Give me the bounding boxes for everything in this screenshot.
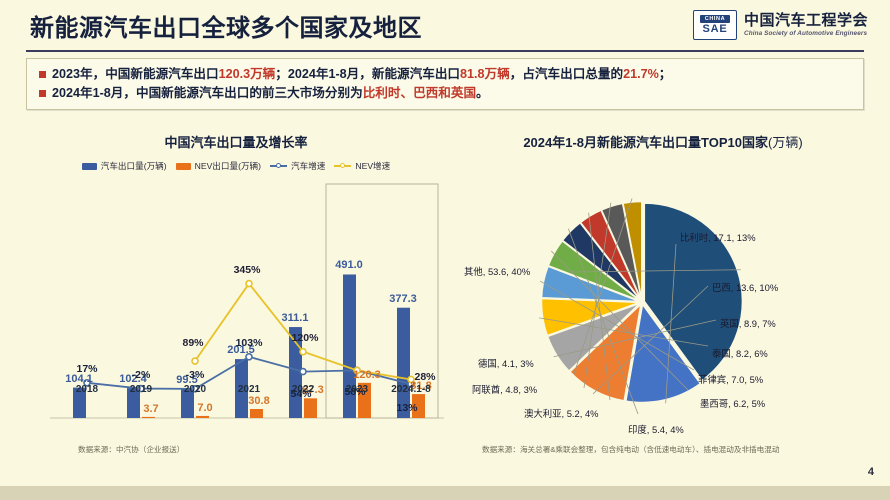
right-chart-title: 2024年1-8月新能源汽车出口量TOP10国家(万辆) [462,132,864,151]
auto-growth-label: -3% [186,369,205,381]
pie-chart-svg [462,174,864,444]
legend-item-3: NEV增速 [334,160,390,172]
x-axis-tick: 2021 [222,384,276,395]
slide-header: 新能源汽车出口全球多个国家及地区 CHINA SAE 中国汽车工程学会 Chin… [0,0,890,52]
pie-label-比利时: 比利时, 17.1, 13% [680,230,756,244]
footer-band [0,486,890,500]
legend-label: NEV出口量(万辆) [195,160,261,172]
auto-growth-label: 17% [76,363,97,375]
highlight-text: 81.8万辆 [460,67,510,81]
pie-label-泰国: 泰国, 8.2, 6% [712,346,768,360]
right-chart-source: 数据来源：海关总署&乘联会整理，包含纯电动（含低速电动车）、插电混动及非插电混动 [482,444,779,455]
bullet-text-1: 2023年，中国新能源汽车出口120.3万辆；2024年1-8月，新能源汽车出口… [52,65,671,84]
right-chart-title-unit: (万辆) [768,135,803,150]
legend-label: 汽车增速 [291,160,325,172]
x-axis-tick: 2018 [60,384,114,395]
pie-chart-panel: 2024年1-8月新能源汽车出口量TOP10国家(万辆) 其他, 53.6, 4… [462,132,864,470]
legend-item-1: NEV出口量(万辆) [176,160,261,172]
legend-item-0: 汽车出口量(万辆) [82,160,167,172]
nev-growth-label: 345% [234,264,261,276]
logo-text: 中国汽车工程学会 China Society of Automotive Eng… [744,13,868,38]
nev-value-label: 30.8 [248,395,269,407]
x-axis-tick: 2022 [276,384,330,395]
left-chart-title: 中国汽车出口量及增长率 [26,132,446,151]
logo-mark-china: CHINA [700,15,730,23]
highlight-text: 21.7% [623,67,659,81]
legend-label: NEV增速 [355,160,390,172]
left-chart-x-axis: 2018201920202021202220232024.1-8 [60,384,438,395]
nev-growth-label: 89% [182,337,203,349]
x-axis-tick: 2024.1-8 [384,384,438,395]
pie-label-澳大利亚: 澳大利亚, 5.2, 4% [524,406,599,420]
bar-nev [196,416,209,418]
legend-swatch [176,163,191,170]
nev-growth-label: 28% [414,371,435,383]
page-number: 4 [868,466,874,478]
bar-nev [250,409,263,418]
header-divider [26,50,864,52]
nev-growth-label: 120% [292,332,319,344]
legend-line-swatch [334,162,351,170]
summary-callout-box: 2023年，中国新能源汽车出口120.3万辆；2024年1-8月，新能源汽车出口… [26,58,864,110]
bar-value-label: 311.1 [282,312,309,324]
pie-label-德国: 德国, 4.1, 3% [478,356,534,370]
bullet-item: 2023年，中国新能源汽车出口120.3万辆；2024年1-8月，新能源汽车出口… [39,65,853,84]
pie-label-阿联酋: 阿联酋, 4.8, 3% [472,382,537,396]
legend-label: 汽车出口量(万辆) [101,160,167,172]
pie-label-巴西: 巴西, 13.6, 10% [712,280,778,294]
logo-name-cn: 中国汽车工程学会 [744,13,868,29]
pie-label-印度: 印度, 5.4, 4% [628,422,684,436]
nev-value-label: 7.0 [197,402,212,414]
left-chart-legend: 汽车出口量(万辆)NEV出口量(万辆)汽车增速NEV增速 [26,160,446,172]
bar-value-label: 491.0 [335,259,363,271]
legend-item-2: 汽车增速 [270,160,325,172]
nev-value-label: 120.3 [353,369,381,381]
sae-logo-icon: CHINA SAE [693,10,737,40]
x-axis-tick: 2019 [114,384,168,395]
bar-value-label: 377.3 [389,293,417,305]
plain-text: 2023年，中国新能源汽车出口 [52,67,219,81]
plain-text: 2024年1-8月，中国新能源汽车出口的前三大市场分别为 [52,86,363,100]
bar-nev [142,417,155,418]
page-title: 新能源汽车出口全球多个国家及地区 [30,8,422,43]
highlight-text: 比利时、巴西和英国 [363,86,476,100]
bullet-item: 2024年1-8月，中国新能源汽车出口的前三大市场分别为比利时、巴西和英国。 [39,84,853,103]
slide-root: 新能源汽车出口全球多个国家及地区 CHINA SAE 中国汽车工程学会 Chin… [0,0,890,500]
auto-growth-label: 13% [396,402,417,414]
pie-chart-area: 其他, 53.6, 40%比利时, 17.1, 13%巴西, 13.6, 10%… [462,174,864,444]
nev-value-label: 3.7 [143,403,158,415]
pie-label-其他: 其他, 53.6, 40% [464,264,530,278]
plain-text: ；2024年1-8月，新能源汽车出口 [275,67,460,81]
right-chart-title-main: 2024年1-8月新能源汽车出口量TOP10国家 [523,135,768,150]
plain-text: ，占汽车出口总量的 [510,67,623,81]
bullet-text-2: 2024年1-8月，中国新能源汽车出口的前三大市场分别为比利时、巴西和英国。 [52,84,489,103]
x-axis-tick: 2020 [168,384,222,395]
logo-mark-sae: SAE [702,23,727,35]
logo-name-en: China Society of Automotive Engineers [744,29,868,38]
auto-growth-label: -2% [132,369,151,381]
pie-label-英国: 英国, 8.9, 7% [720,316,776,330]
bar-nev [304,398,317,418]
bullet-square-icon [39,90,46,97]
organization-logo: CHINA SAE 中国汽车工程学会 China Society of Auto… [693,8,868,42]
left-chart-source: 数据来源：中汽协（企业报送） [78,444,184,455]
legend-line-swatch [270,162,287,170]
bullet-square-icon [39,71,46,78]
legend-swatch [82,163,97,170]
x-axis-tick: 2023 [330,384,384,395]
plain-text: 。 [476,86,489,100]
plain-text: ； [659,67,672,81]
auto-growth-label: 103% [236,337,263,349]
pie-label-菲律宾: 菲律宾, 7.0, 5% [698,372,763,386]
pie-label-墨西哥: 墨西哥, 6.2, 5% [700,396,765,410]
highlight-text: 120.3万辆 [219,67,276,81]
bar-line-chart-panel: 中国汽车出口量及增长率 汽车出口量(万辆)NEV出口量(万辆)汽车增速NEV增速… [26,132,446,470]
